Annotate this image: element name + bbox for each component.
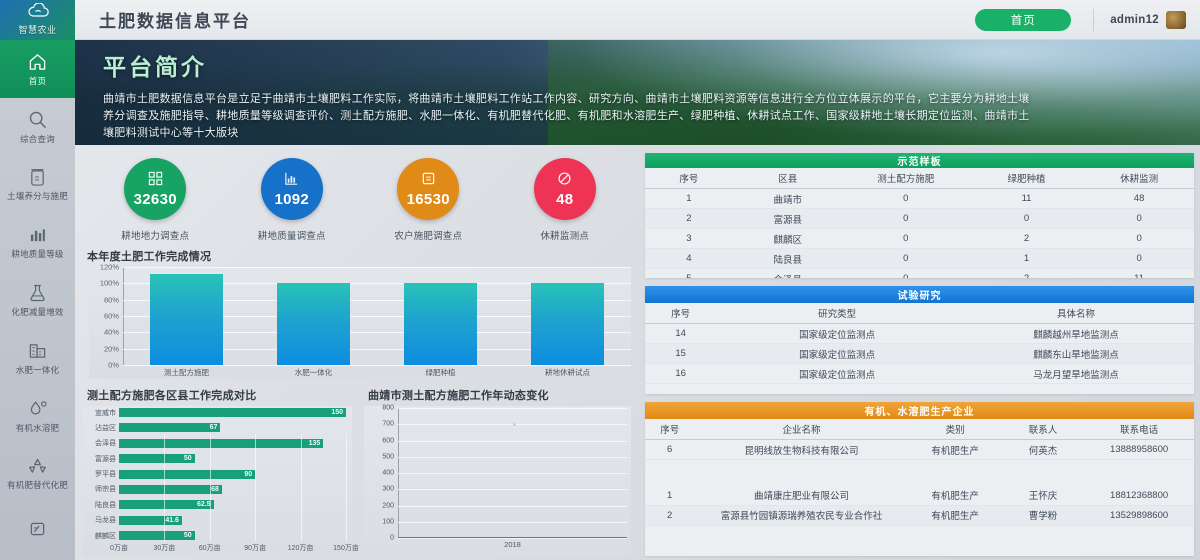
table-row[interactable]: 15国家级定位监测点麒麟东山旱地监测点 [645, 344, 1194, 364]
demo-table-card: 示范样板 序号区县测土配方施肥绿肥种植休耕监测 1曲靖市011482富源县000… [645, 153, 1194, 278]
gridline [398, 506, 627, 507]
hbar-category-label: 罗平县 [95, 469, 116, 479]
table-body: 1曲靖市011482富源县0003麒麟区0204陆良县0105会泽县0211 [645, 189, 1194, 278]
table-cell: 6 [645, 440, 694, 460]
table-column-header: 研究类型 [716, 303, 958, 324]
stat-value: 16530 [407, 191, 450, 208]
y-axis-tick: 20% [104, 344, 119, 353]
y-axis-tick: 500 [382, 453, 394, 460]
stat-value: 32630 [134, 191, 177, 208]
y-axis-tick: 300 [382, 486, 394, 493]
table-header-row: 序号区县测土配方施肥绿肥种植休耕监测 [645, 168, 1194, 189]
droplet-icon [28, 399, 48, 419]
stat-bubble: 48 [534, 158, 596, 220]
hbar-chart[interactable]: 宣威市150沾益区67会泽县135富源县50罗平县90师宗县68陆良县62.5马… [83, 406, 352, 556]
table-cell: 0 [1084, 209, 1194, 229]
table-column-header: 联系人 [1002, 419, 1084, 440]
app-logo[interactable]: 智慧农业 [0, 0, 75, 40]
vbar-x-labels: 测土配方施肥水肥一体化绿肥种植耕地休耕试点 [123, 365, 631, 379]
stats-row: 32630 耕地地力调查点 1092 耕地质量调查点 [81, 153, 639, 244]
table-cell: 0 [969, 209, 1084, 229]
lower-charts-row: 测土配方施肥各区县工作完成对比 宣威市150沾益区67会泽县135富源县50罗平… [81, 383, 639, 556]
table-cell: 2 [969, 269, 1084, 278]
y-axis-tick: 0% [108, 361, 119, 370]
line-x-labels: 2018 [398, 540, 627, 554]
table-column-header: 联系电话 [1084, 419, 1194, 440]
y-axis-tick: 400 [382, 470, 394, 477]
home-icon [28, 52, 47, 72]
top-bar: 土肥数据信息平台 首页 admin12 [75, 0, 1200, 40]
stat-label: 农户施肥调查点 [394, 228, 462, 242]
x-axis-tick: 30万亩 [153, 543, 175, 553]
table-row[interactable]: 1曲靖康庄肥业有限公司有机肥生产王怀庆18812368800 [645, 486, 1194, 506]
hbar-category-label: 麒麟区 [95, 531, 116, 541]
hbar-row: 会泽县135 [119, 439, 346, 448]
gridline [398, 489, 627, 490]
y-axis-tick: 40% [104, 328, 119, 337]
gridline [398, 522, 627, 523]
sidebar-item-label: 首页 [29, 76, 46, 86]
right-column: 示范样板 序号区县测土配方施肥绿肥种植休耕监测 1曲靖市011482富源县000… [645, 153, 1194, 556]
gridline [398, 441, 627, 442]
hbar-value-label: 67 [210, 424, 221, 431]
table-row[interactable]: 16国家级定位监测点马龙月望旱地监测点 [645, 364, 1194, 384]
hbar-value-label: 62.5 [197, 501, 214, 508]
table-column-header: 序号 [645, 419, 694, 440]
sidebar-item-label: 耕地质量等级 [11, 249, 63, 259]
table-column-header: 企业名称 [694, 419, 908, 440]
banner-title: 平台简介 [103, 48, 1200, 82]
sidebar-item-organic-replace-chemical[interactable]: 有机肥替代化肥 [0, 444, 75, 502]
table-cell: 15 [645, 344, 716, 364]
table-cell: 富源县 [733, 209, 843, 229]
note-icon [421, 171, 436, 189]
hbar-value-label: 68 [211, 486, 222, 493]
hbar-row: 沾益区67 [119, 423, 346, 432]
gridline [398, 408, 627, 409]
recycle-icon [28, 456, 47, 476]
x-axis-tick: 耕地休耕试点 [504, 365, 631, 379]
sidebar-item-label: 有机肥替代化肥 [7, 480, 68, 490]
table-cell: 陆良县 [733, 249, 843, 269]
y-axis-tick: 60% [104, 312, 119, 321]
research-table-title: 试验研究 [645, 286, 1194, 303]
sidebar-item-farmland-quality[interactable]: 耕地质量等级 [0, 213, 75, 271]
gridline [398, 538, 627, 539]
table-cell: 曲靖康庄肥业有限公司 [694, 486, 908, 506]
vbar[interactable] [277, 283, 351, 365]
table-cell: 13529898600 [1084, 505, 1194, 525]
table-cell: 0 [843, 189, 969, 209]
table-column-header: 类别 [909, 419, 1002, 440]
hbar-x-axis: 0万亩30万亩60万亩90万亩120万亩150万亩 [119, 540, 346, 556]
avatar[interactable] [1166, 11, 1186, 29]
dashboard-page: 智慧农业 首页 综合查询 土壤养分与施肥 耕地质量等级 [0, 0, 1200, 560]
gridline [398, 457, 627, 458]
vbar-chart-title: 本年度土肥工作完成情况 [87, 248, 639, 264]
table-cell: 曹学粉 [1002, 505, 1084, 525]
hbar-value-label: 50 [184, 532, 195, 539]
hbar[interactable]: 150 [119, 408, 346, 417]
line-gridlines: 8007006005004003002001000 [398, 408, 627, 538]
sidebar-item-organic-soluble-fertilizer[interactable]: 有机水溶肥 [0, 387, 75, 445]
table-column-header: 序号 [645, 303, 716, 324]
y-axis-tick: 80% [104, 295, 119, 304]
table-cell: 0 [843, 249, 969, 269]
bar-chart-icon [28, 225, 47, 245]
gridline [301, 434, 302, 542]
stat-label: 休耕监测点 [540, 228, 589, 242]
sidebar-item-home[interactable]: 首页 [0, 40, 75, 98]
research-table: 序号研究类型具体名称 14国家级定位监测点麒麟越州旱地监测点15国家级定位监测点… [645, 303, 1194, 384]
x-axis-tick: 150万亩 [333, 543, 359, 553]
table-column-header: 绿肥种植 [969, 168, 1084, 189]
table-row[interactable]: 4陆良县010 [645, 249, 1194, 269]
sidebar-item-comprehensive-query[interactable]: 综合查询 [0, 98, 75, 156]
hbar[interactable]: 90 [119, 470, 255, 479]
demo-table: 序号区县测土配方施肥绿肥种植休耕监测 1曲靖市011482富源县0003麒麟区0… [645, 168, 1194, 278]
enterprise-table: 序号企业名称类别联系人联系电话 6昆明线放生物科技有限公司有机肥生产何英杰138… [645, 419, 1194, 526]
table-cell: 有机肥生产 [909, 505, 1002, 525]
topbar-divider [1093, 9, 1094, 31]
enterprise-table-scroll[interactable]: 序号企业名称类别联系人联系电话 6昆明线放生物科技有限公司有机肥生产何英杰138… [645, 419, 1194, 556]
stat-label: 耕地质量调查点 [258, 228, 326, 242]
table-cell: 13888958600 [1084, 440, 1194, 460]
table-cell: 0 [843, 229, 969, 249]
sidebar-item-water-fertilizer-integration[interactable]: 水肥一体化 [0, 329, 75, 387]
table-column-header: 区县 [733, 168, 843, 189]
hbar-row: 师宗县68 [119, 485, 346, 494]
flask-icon [29, 167, 46, 187]
x-axis-tick: 测土配方施肥 [123, 365, 250, 379]
table-row[interactable]: 1曲靖市01148 [645, 189, 1194, 209]
table-body: 6昆明线放生物科技有限公司有机肥生产何英杰138889586001曲靖康庄肥业有… [645, 440, 1194, 526]
user-name[interactable]: admin12 [1110, 14, 1159, 26]
sidebar-item-soil-nutrient[interactable]: 土壤养分与施肥 [0, 155, 75, 213]
table-cell: 1 [969, 249, 1084, 269]
sidebar-item-label: 水肥一体化 [16, 365, 60, 375]
y-axis-tick: 0 [390, 535, 394, 542]
hbar-chart-panel: 测土配方施肥各区县工作完成对比 宣威市150沾益区67会泽县135富源县50罗平… [81, 383, 358, 556]
stat-bubble: 16530 [397, 158, 459, 220]
table-row[interactable]: 6昆明线放生物科技有限公司有机肥生产何英杰13888958600 [645, 440, 1194, 460]
hbar-category-label: 沾益区 [95, 423, 116, 433]
table-cell: 1 [645, 189, 733, 209]
chart-icon [284, 171, 299, 189]
hbar-category-label: 师宗县 [95, 484, 116, 494]
enterprise-table-title: 有机、水溶肥生产企业 [645, 402, 1194, 419]
hbar[interactable]: 68 [119, 485, 222, 494]
beaker-icon [28, 283, 48, 303]
table-cell: 有机肥生产 [909, 486, 1002, 506]
hbar-row: 宣威市150 [119, 408, 346, 417]
vbar-chart[interactable]: 120%100%80%60%40%20%0% 测土配方施肥水肥一体化绿肥种植耕地… [89, 267, 631, 379]
stat-bubble: 32630 [124, 158, 186, 220]
research-table-scroll[interactable]: 序号研究类型具体名称 14国家级定位监测点麒麟越州旱地监测点15国家级定位监测点… [645, 303, 1194, 394]
demo-table-title: 示范样板 [645, 153, 1194, 168]
table-row[interactable]: 3麒麟区020 [645, 229, 1194, 249]
table-cell: 会泽县 [733, 269, 843, 278]
line-chart[interactable]: 8007006005004003002001000 2018 [364, 406, 631, 556]
stat-value: 48 [556, 191, 573, 208]
table-header-row: 序号研究类型具体名称 [645, 303, 1194, 324]
hbar-row: 罗平县90 [119, 470, 346, 479]
table-cell: 1 [645, 486, 694, 506]
stat-card[interactable]: 1092 耕地质量调查点 [232, 158, 352, 242]
table-cell: 0 [843, 269, 969, 278]
gridline [398, 473, 627, 474]
table-cell: 0 [843, 209, 969, 229]
table-header-row: 序号企业名称类别联系人联系电话 [645, 419, 1194, 440]
vbar[interactable] [150, 274, 224, 365]
main-area: 土肥数据信息平台 首页 admin12 平台简介 曲靖市土肥数据信息平台是立足于… [75, 0, 1200, 560]
content-area: 32630 耕地地力调查点 1092 耕地质量调查点 [75, 145, 1200, 560]
left-column: 32630 耕地地力调查点 1092 耕地质量调查点 [81, 153, 639, 556]
y-axis-tick: 200 [382, 502, 394, 509]
y-axis-tick: 600 [382, 437, 394, 444]
table-cell: 4 [645, 249, 733, 269]
sidebar-item-label: 化肥减量增效 [11, 307, 63, 317]
demo-table-scroll[interactable]: 序号区县测土配方施肥绿肥种植休耕监测 1曲靖市011482富源县0003麒麟区0… [645, 168, 1194, 278]
stat-value: 1092 [274, 191, 309, 208]
cloud-icon [27, 3, 49, 22]
sidebar-item-label: 有机水溶肥 [16, 423, 60, 433]
table-cell: 11 [1084, 269, 1194, 278]
x-axis-tick: 90万亩 [244, 543, 266, 553]
hbar[interactable]: 50 [119, 531, 195, 540]
table-cell: 国家级定位监测点 [716, 364, 958, 384]
vbar[interactable] [404, 283, 478, 365]
table-cell: 5 [645, 269, 733, 278]
table-column-header: 休耕监测 [1084, 168, 1194, 189]
x-axis-tick: 水肥一体化 [250, 365, 377, 379]
hbar[interactable]: 50 [119, 454, 195, 463]
table-cell: 富源县竹园镇源瑞养殖农民专业合作社 [694, 505, 908, 525]
x-axis-tick: 2018 [504, 540, 521, 549]
hbar-category-label: 会泽县 [95, 438, 116, 448]
stat-card[interactable]: 16530 农户施肥调查点 [368, 158, 488, 242]
grid-icon [148, 171, 163, 189]
table-cell: 0 [1084, 249, 1194, 269]
hbar-value-label: 150 [331, 409, 346, 416]
table-cell: 3 [645, 229, 733, 249]
sidebar: 智慧农业 首页 综合查询 土壤养分与施肥 耕地质量等级 [0, 0, 75, 560]
ban-icon [557, 171, 572, 189]
hbar-value-label: 135 [309, 440, 324, 447]
hbar-chart-title: 测土配方施肥各区县工作完成对比 [87, 387, 358, 403]
hbar-category-label: 陆良县 [95, 500, 116, 510]
hbar-category-label: 富源县 [95, 454, 116, 464]
table-cell: 0 [1084, 229, 1194, 249]
table-column-header: 测土配方施肥 [843, 168, 969, 189]
gridline [346, 434, 347, 542]
table-cell: 曲靖市 [733, 189, 843, 209]
vbar-series [123, 267, 631, 365]
line-chart-panel: 曲靖市测土配方施肥工作年动态变化 80070060050040030020010… [362, 383, 639, 556]
table-cell: 有机肥生产 [909, 440, 1002, 460]
table-column-header: 序号 [645, 168, 733, 189]
enterprise-table-card: 有机、水溶肥生产企业 序号企业名称类别联系人联系电话 6昆明线放生物科技有限公司… [645, 402, 1194, 556]
gridline [164, 434, 165, 542]
table-row[interactable]: 5会泽县0211 [645, 269, 1194, 278]
hbar-row: 马龙县41.6 [119, 516, 346, 525]
stat-card[interactable]: 32630 耕地地力调查点 [95, 158, 215, 242]
table-row[interactable]: 2富源县竹园镇源瑞养殖农民专业合作社有机肥生产曹学粉13529898600 [645, 505, 1194, 525]
x-axis-tick: 绿肥种植 [377, 365, 504, 379]
y-axis-tick: 800 [382, 405, 394, 412]
vbar-cell [504, 267, 631, 365]
sidebar-item-label: 综合查询 [20, 134, 55, 144]
hbar[interactable]: 67 [119, 423, 220, 432]
hbar-value-label: 90 [244, 471, 255, 478]
table-cell: 国家级定位监测点 [716, 324, 958, 344]
table-body: 14国家级定位监测点麒麟越州旱地监测点15国家级定位监测点麒麟东山旱地监测点16… [645, 324, 1194, 384]
sidebar-item-label: 土壤养分与施肥 [7, 191, 68, 201]
stat-card[interactable]: 48 休耕监测点 [505, 158, 625, 242]
hbar-category-label: 宣威市 [95, 408, 116, 418]
x-axis-tick: 120万亩 [288, 543, 314, 553]
intro-banner: 平台简介 曲靖市土肥数据信息平台是立足于曲靖市土壤肥料工作实际，将曲靖市土壤肥料… [75, 40, 1200, 145]
vbar-cell [377, 267, 504, 365]
hbar-row: 富源县50 [119, 454, 346, 463]
table-cell: 2 [969, 229, 1084, 249]
y-axis-tick: 100% [100, 279, 119, 288]
stat-bubble: 1092 [261, 158, 323, 220]
y-axis-tick: 700 [382, 421, 394, 428]
line-chart-title: 曲靖市测土配方施肥工作年动态变化 [368, 387, 639, 403]
table-cell: 麒麟东山旱地监测点 [958, 344, 1194, 364]
table-cell: 麒麟越州旱地监测点 [958, 324, 1194, 344]
table-row[interactable]: 14国家级定位监测点麒麟越州旱地监测点 [645, 324, 1194, 344]
table-cell: 2 [645, 209, 733, 229]
table-spacer-row [645, 460, 1194, 486]
hbar-row: 麒麟区50 [119, 531, 346, 540]
sidebar-item-extra[interactable] [0, 502, 75, 560]
page-title: 土肥数据信息平台 [99, 7, 251, 32]
table-cell: 昆明线放生物科技有限公司 [694, 440, 908, 460]
vbar-cell [250, 267, 377, 365]
hbar[interactable]: 62.5 [119, 500, 214, 509]
gridline [255, 434, 256, 542]
table-cell: 王怀庆 [1002, 486, 1084, 506]
factory-icon [28, 341, 47, 361]
table-column-header: 具体名称 [958, 303, 1194, 324]
leaf-icon [29, 519, 46, 539]
stat-label: 耕地地力调查点 [121, 228, 189, 242]
research-table-card: 试验研究 序号研究类型具体名称 14国家级定位监测点麒麟越州旱地监测点15国家级… [645, 286, 1194, 394]
x-axis-tick: 0万亩 [110, 543, 128, 553]
hbar-value-label: 41.6 [165, 517, 182, 524]
app-logo-label: 智慧农业 [18, 23, 56, 36]
vbar[interactable] [531, 283, 605, 365]
sidebar-item-fertilizer-reduction[interactable]: 化肥减量增效 [0, 271, 75, 329]
table-cell: 14 [645, 324, 716, 344]
y-axis-tick: 120% [100, 263, 119, 272]
table-cell: 麒麟区 [733, 229, 843, 249]
table-cell: 国家级定位监测点 [716, 344, 958, 364]
table-cell: 何英杰 [1002, 440, 1084, 460]
table-cell: 2 [645, 505, 694, 525]
hbar-row: 陆良县62.5 [119, 500, 346, 509]
search-icon [28, 110, 47, 130]
data-point[interactable] [513, 423, 516, 426]
hbar[interactable]: 135 [119, 439, 323, 448]
table-cell: 16 [645, 364, 716, 384]
table-cell: 马龙月望旱地监测点 [958, 364, 1194, 384]
hbar-series: 宣威市150沾益区67会泽县135富源县50罗平县90师宗县68陆良县62.5马… [119, 408, 346, 540]
table-row[interactable]: 2富源县000 [645, 209, 1194, 229]
hbar-category-label: 马龙县 [95, 515, 116, 525]
table-cell: 18812368800 [1084, 486, 1194, 506]
table-cell [645, 460, 1194, 486]
home-button[interactable]: 首页 [975, 9, 1071, 31]
hbar-value-label: 50 [184, 455, 195, 462]
hbar[interactable]: 41.6 [119, 516, 182, 525]
vbar-cell [123, 267, 250, 365]
banner-body: 曲靖市土肥数据信息平台是立足于曲靖市土壤肥料工作实际，将曲靖市土壤肥料工作站工作… [103, 91, 1033, 142]
y-axis-tick: 100 [382, 518, 394, 525]
x-axis-tick: 60万亩 [199, 543, 221, 553]
table-cell: 11 [969, 189, 1084, 209]
table-cell: 48 [1084, 189, 1194, 209]
gridline [210, 434, 211, 542]
